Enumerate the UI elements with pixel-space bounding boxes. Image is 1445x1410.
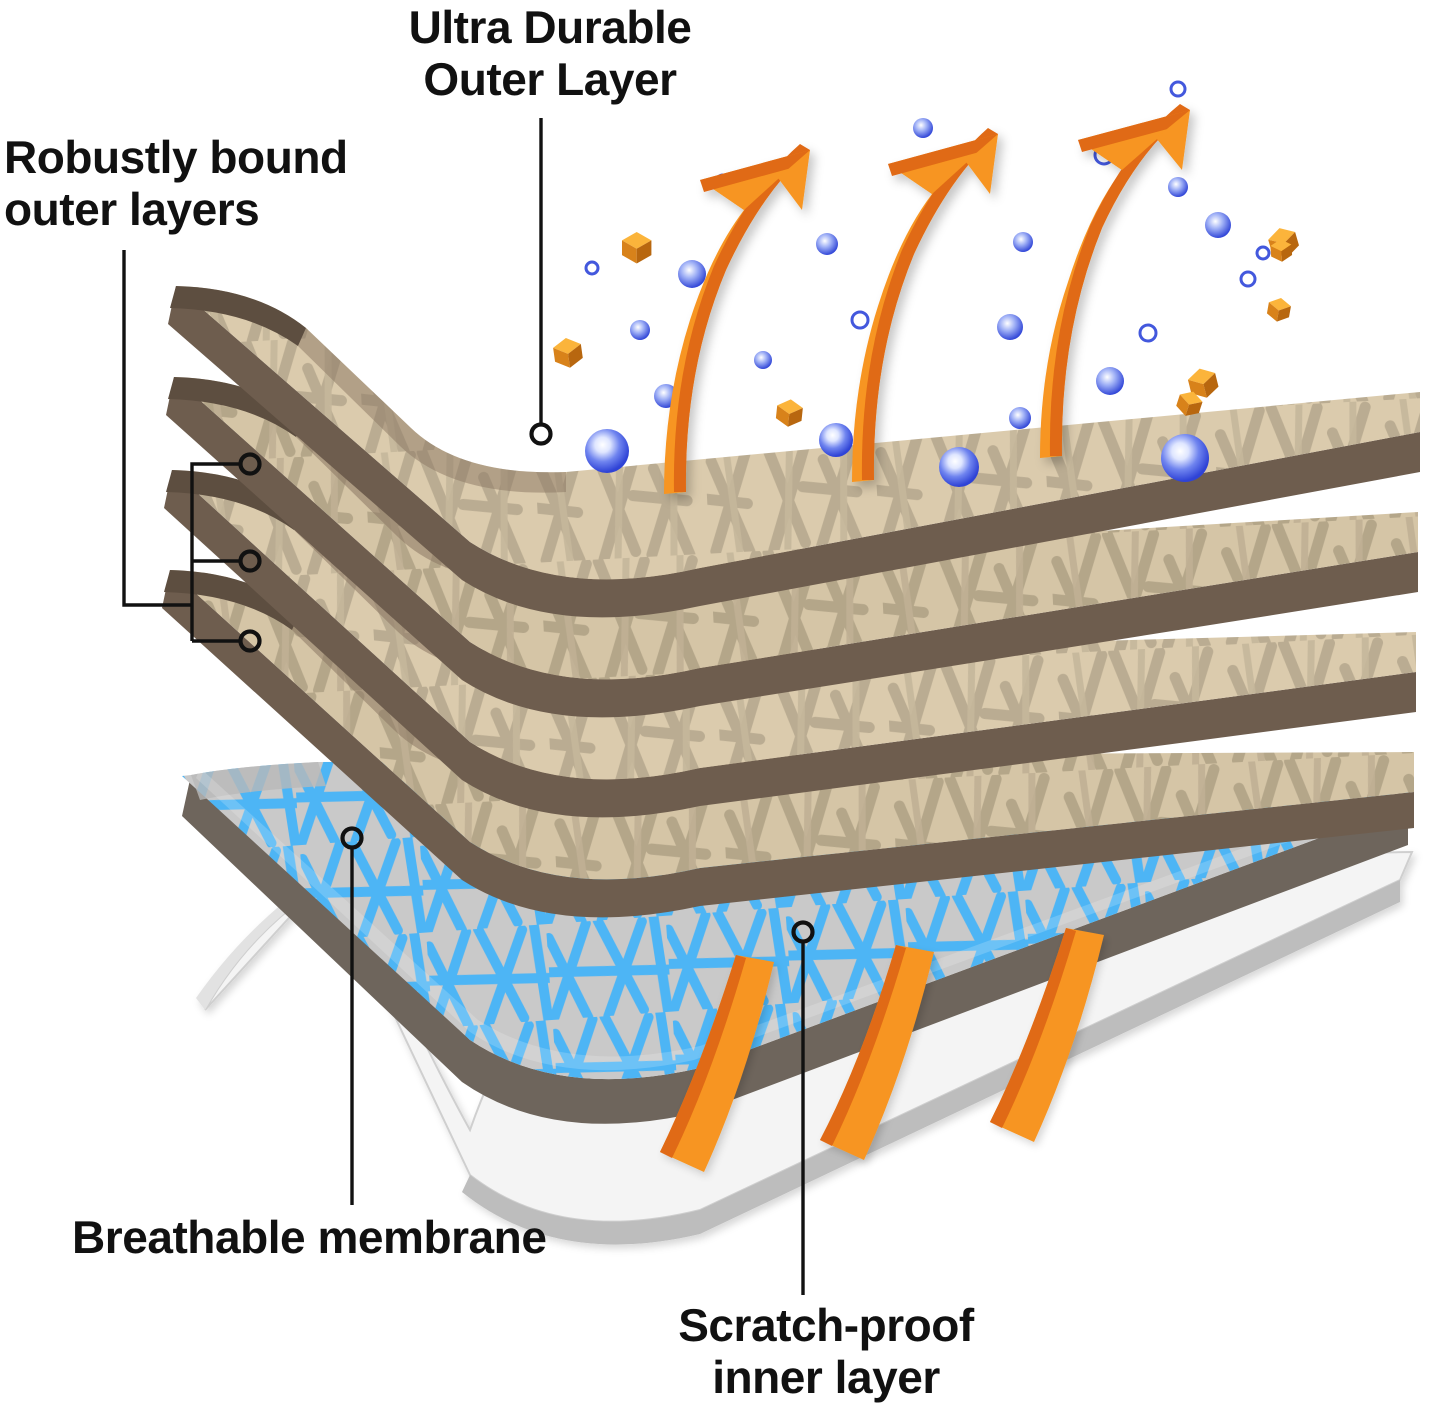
moisture-arrow-2: [852, 128, 998, 482]
label-breathable-membrane: Breathable membrane: [72, 1212, 692, 1264]
label-scratch-proof-inner-layer: Scratch-proof inner layer: [616, 1300, 1036, 1403]
moisture-arrow-1: [664, 144, 810, 494]
moisture-arrow-3: [1040, 104, 1190, 458]
label-ultra-durable-outer-layer: Ultra Durable Outer Layer: [380, 2, 720, 105]
callout-outer-layer: [532, 118, 551, 444]
label-robustly-bound-outer-layers: Robustly bound outer layers: [4, 132, 434, 235]
diagram-canvas: Ultra Durable Outer Layer Robustly bound…: [0, 0, 1445, 1410]
